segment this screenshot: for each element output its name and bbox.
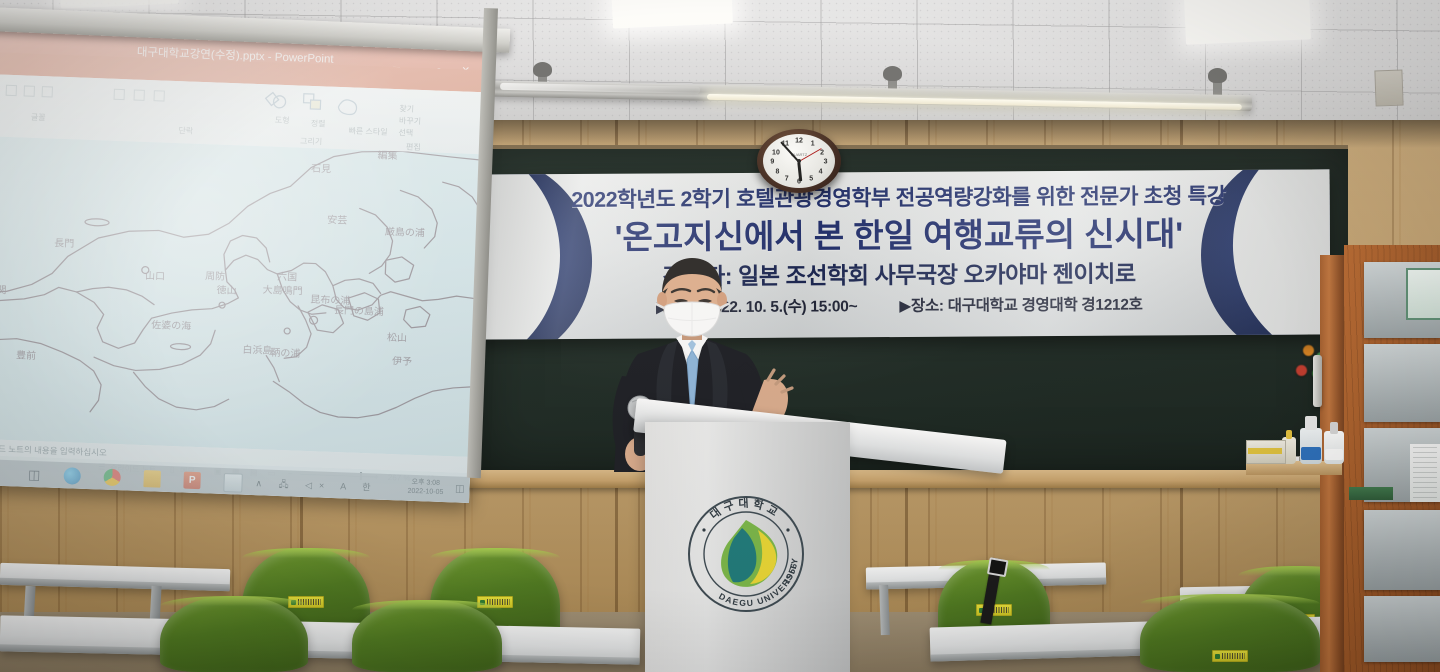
map-label: 鞆の浦 [270, 346, 301, 360]
clock-face: QUARTZ 12 1 2 3 4 5 6 7 8 9 10 11 [763, 134, 835, 188]
notice-sheet [1410, 444, 1440, 502]
taskbar-clock[interactable]: 오후 3:08 2022-10-05 [407, 478, 443, 498]
pump-cap [1330, 422, 1339, 434]
clock-numeral: 7 [785, 175, 789, 182]
daegu-university-logo: 대 구 대 학 교 DAEGU UNIVERSITY 1956 [686, 494, 806, 614]
clock-numeral: 8 [775, 168, 779, 175]
magnet-orange [1303, 345, 1314, 356]
map-label: 白浜島 [242, 343, 273, 357]
chrome-icon[interactable] [103, 469, 121, 487]
chair-asset-tag [1212, 650, 1248, 662]
ceiling-vent [1374, 70, 1403, 107]
clock-center-pin [797, 159, 801, 163]
ribbon-command-replace[interactable]: 바꾸기 [399, 115, 421, 127]
ribbon-group-paragraph: 단락 [178, 125, 193, 137]
clock-numeral: 9 [770, 159, 774, 166]
bottle-label [1301, 447, 1320, 460]
supply-box-band [1248, 448, 1282, 454]
action-center-icon[interactable]: ◫ [455, 483, 465, 494]
door-notice-board [1364, 262, 1440, 662]
fixture-highlight [500, 83, 700, 94]
map-label: 石見 [311, 163, 332, 176]
ribbon-group-drawing: 그리기 [300, 136, 322, 148]
bottle-cap [1286, 430, 1292, 439]
internet-explorer-icon[interactable] [63, 467, 81, 485]
taskbar-date: 2022-10-05 [407, 487, 443, 498]
door-handle[interactable] [1313, 355, 1322, 407]
strap-buckle [987, 557, 1009, 577]
chair [160, 596, 308, 672]
ribbon-command-find[interactable]: 찾기 [399, 103, 414, 115]
map-label: 長門の島浦 [334, 303, 384, 318]
bottle-label [1325, 449, 1343, 460]
magnet-red [1296, 365, 1307, 376]
banner-title: '온고지신에서 본 한일 여행교류의 신시대' [468, 206, 1330, 259]
map-label: 下関 [0, 284, 7, 297]
map-label: 周防 [205, 269, 226, 283]
pump-cap [1305, 416, 1316, 430]
notice-text-lines [1413, 447, 1437, 499]
map-label: 松山 [387, 331, 407, 345]
ribbon-group-font: 글꼴 [31, 112, 46, 124]
map-label: 安芸 [327, 213, 348, 227]
file-explorer-icon[interactable] [143, 470, 161, 488]
map-label: 長門 [54, 237, 75, 250]
notice-frame [1364, 344, 1440, 422]
chair [352, 600, 502, 672]
banner-place: ▶장소: 대구대학교 경영대학 경1212호 [899, 297, 1142, 315]
lectern: 대 구 대 학 교 DAEGU UNIVERSITY 1956 [645, 398, 860, 672]
ribbon-group-arrange: 정렬 [311, 118, 326, 130]
task-view-icon[interactable]: ◫ [25, 466, 43, 484]
projection-screen: 대구대학교강연(수정).pptx - PowerPoint ▭ — ▫ ✕ 애니… [0, 30, 486, 503]
arrange-icon[interactable] [301, 92, 324, 113]
historical-map-drawing: 石見 安芸 長門 周防 山口 下関 佐婆の海 豊前 大島鳴門 昆布の浦 長門の島… [0, 136, 482, 457]
table-leg [879, 585, 890, 635]
clock-numeral: 2 [820, 149, 824, 156]
slide-canvas[interactable]: 石見 安芸 長門 周防 山口 下関 佐婆の海 豊前 大島鳴門 昆布の浦 長門の島… [0, 136, 482, 457]
chair [1140, 594, 1320, 672]
powerpoint-icon[interactable]: P [183, 472, 201, 490]
system-tray-icons[interactable]: ∧ 🖧 ◁× A 한 [255, 476, 378, 496]
clock-numeral: 4 [819, 168, 823, 175]
hand-sanitizer-bottle [1300, 418, 1322, 464]
map-label: 山口 [145, 270, 165, 283]
clock-numeral: 12 [795, 138, 803, 145]
map-label: 六国 [277, 270, 298, 284]
map-label: 編集 [377, 148, 398, 162]
map-label: 佐婆の海 [151, 318, 192, 332]
clock-numeral: 1 [811, 141, 815, 148]
lectern-front-panel: 대 구 대 학 교 DAEGU UNIVERSITY 1956 [645, 422, 850, 672]
photos-icon[interactable] [223, 473, 243, 493]
notice-frame [1364, 596, 1440, 662]
quick-styles-icon[interactable] [335, 95, 360, 116]
shapes-icon[interactable] [263, 90, 290, 111]
door-green-plate [1349, 487, 1393, 500]
map-label: 大島鳴門 [262, 283, 303, 297]
map-label: 厳島の浦 [385, 225, 426, 239]
lecture-hall-photo: 2022학년도 2학기 호텔관광경영학부 전공역량강화를 위한 전문가 초청 특… [0, 0, 1440, 672]
notice-sheet [1406, 268, 1440, 320]
clock-numeral: 5 [809, 175, 813, 182]
clock-numeral: 10 [772, 149, 780, 156]
ceiling-panel-light [1184, 0, 1311, 45]
clock-numeral: 3 [824, 159, 828, 166]
notice-frame [1364, 510, 1440, 590]
ribbon-group-shapes: 도형 [275, 115, 290, 127]
ribbon-group-quick-styles: 빠른 스타일 [348, 125, 387, 137]
map-label: 徳山 [216, 283, 236, 297]
map-label: 伊予 [392, 355, 413, 368]
wall-clock: QUARTZ 12 1 2 3 4 5 6 7 8 9 10 11 [757, 129, 841, 193]
ribbon-command-select[interactable]: 선택 [398, 127, 413, 139]
powerpoint-window[interactable]: 대구대학교강연(수정).pptx - PowerPoint ▭ — ▫ ✕ 애니… [0, 30, 486, 503]
map-label: 豊前 [16, 348, 37, 362]
hand-sanitizer-bottle [1324, 423, 1344, 464]
